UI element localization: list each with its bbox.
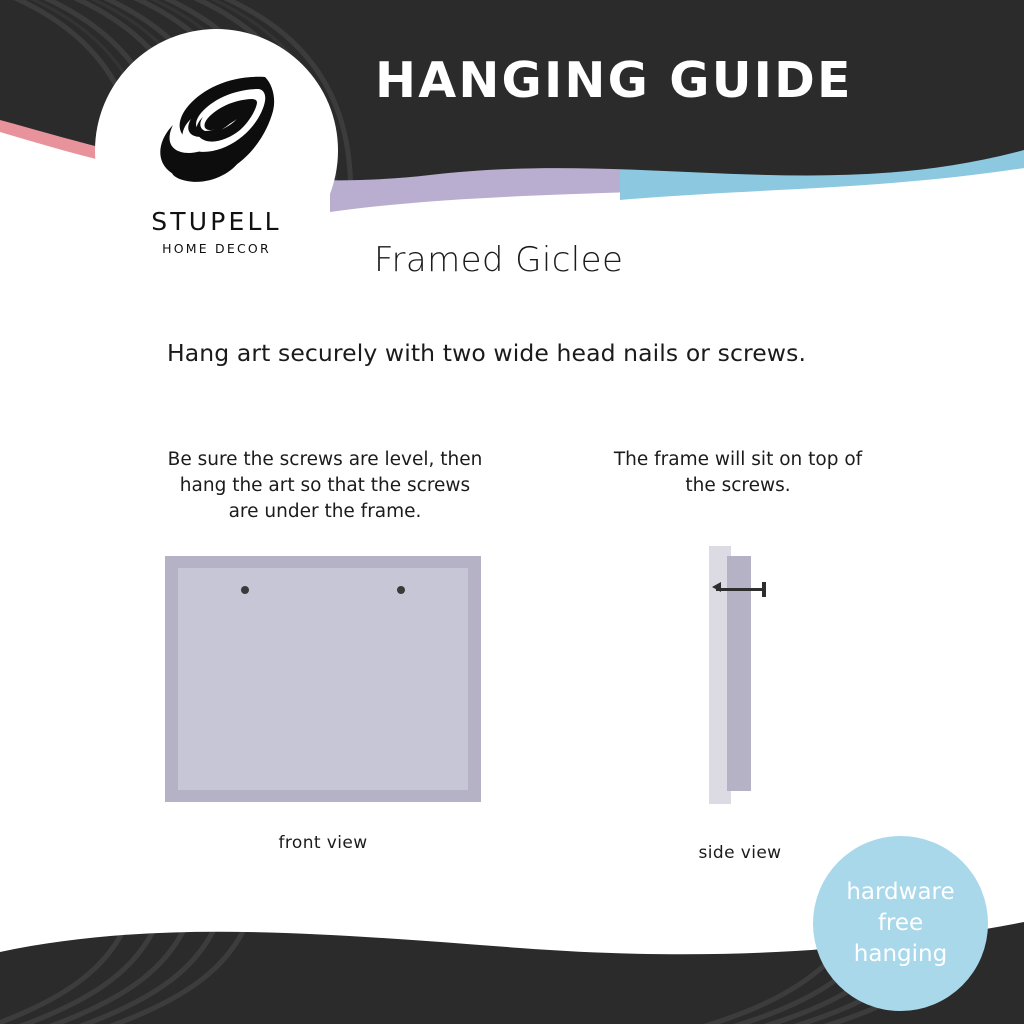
- hanging-guide-page: STUPELL HOME DECOR HANGING GUIDE Framed …: [0, 0, 1024, 1024]
- side-view-label: side view: [620, 843, 860, 863]
- logo-wordmark: STUPELL: [95, 207, 338, 236]
- front-view-label: front view: [165, 833, 481, 853]
- side-view-caption: The frame will sit on top of the screws.: [598, 447, 878, 499]
- frame-profile: [727, 556, 751, 791]
- screw-dot-right: [397, 586, 405, 594]
- screw-head: [762, 582, 766, 597]
- badge-line-3: hanging: [846, 939, 954, 970]
- page-title: HANGING GUIDE: [375, 52, 853, 109]
- stupell-swan-logo-icon: [147, 71, 287, 196]
- front-view-caption: Be sure the screws are level, then hang …: [165, 447, 485, 525]
- hardware-free-badge: hardware free hanging: [813, 836, 988, 1011]
- badge-line-2: free: [846, 908, 954, 939]
- frame-inner-art: [177, 567, 469, 791]
- screw-dot-left: [241, 586, 249, 594]
- badge-line-1: hardware: [846, 877, 954, 908]
- product-type-title: Framed Giclee: [374, 240, 623, 280]
- side-view-diagram: [700, 546, 780, 806]
- logo-badge: STUPELL HOME DECOR: [95, 29, 338, 272]
- front-view-diagram: [165, 556, 481, 802]
- logo-tagline: HOME DECOR: [95, 241, 338, 256]
- instruction-lead: Hang art securely with two wide head nai…: [167, 339, 806, 367]
- screw-shaft: [716, 588, 766, 591]
